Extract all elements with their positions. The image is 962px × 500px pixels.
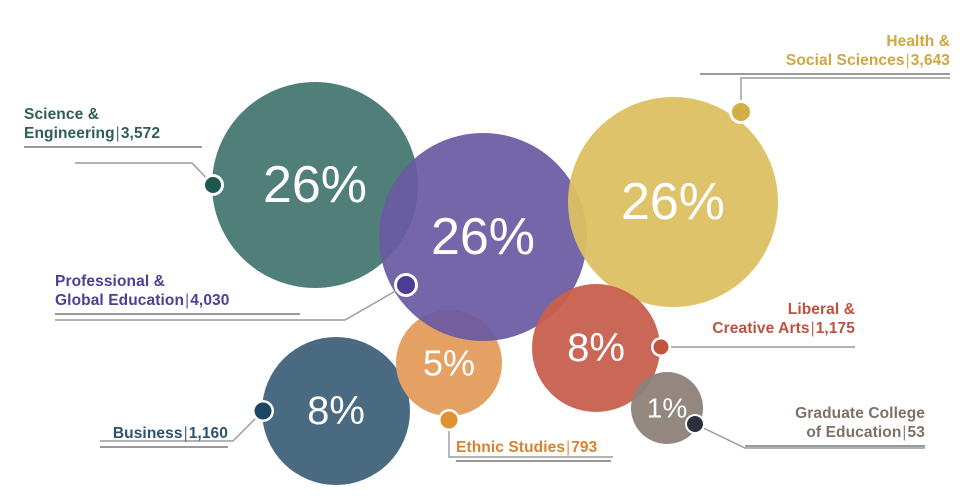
label-line1: Professional & (55, 273, 165, 290)
label-underline (745, 445, 925, 447)
connector-dot-health-social[interactable] (729, 100, 753, 124)
label-underline (24, 146, 202, 148)
label-liberal-creative[interactable]: Liberal & Creative Arts|1,175 (680, 300, 855, 338)
label-line1: Graduate College (795, 405, 925, 422)
connector-dot-liberal-creative[interactable] (651, 337, 671, 357)
label-separator: | (901, 424, 907, 441)
label-line1: Liberal & (788, 301, 855, 318)
leader-line-science-engineering (75, 163, 213, 185)
label-value: 3,643 (911, 52, 950, 69)
label-separator: | (115, 125, 121, 142)
label-separator: | (183, 425, 189, 442)
label-value: 793 (571, 439, 597, 456)
label-line1: Ethnic Studies (456, 439, 565, 456)
label-line2: Social Sciences (786, 52, 905, 69)
label-value: 1,175 (816, 320, 855, 337)
connector-dot-professional-global[interactable] (394, 273, 418, 297)
label-line2: of Education (806, 424, 901, 441)
label-line2: Global Education (55, 292, 184, 309)
connector-dot-science-engineering[interactable] (202, 174, 224, 196)
bubble-percent-liberal-creative: 8% (567, 326, 625, 370)
label-value: 1,160 (189, 425, 228, 442)
label-line2: Engineering (24, 125, 115, 142)
label-line1: Science & (24, 106, 99, 123)
connector-dot-business[interactable] (252, 400, 274, 422)
label-underline (700, 73, 950, 75)
bubble-percent-graduate-education: 1% (647, 393, 687, 424)
label-value: 4,030 (190, 292, 229, 309)
label-graduate-education[interactable]: Graduate College of Education|53 (745, 404, 925, 447)
label-underline (456, 460, 611, 462)
label-separator: | (565, 439, 571, 456)
bubble-health-social[interactable]: 26% (568, 97, 778, 307)
label-value: 3,572 (121, 125, 160, 142)
leader-line-health-social (741, 78, 950, 112)
bubble-chart-canvas: 26% 8% 26% 5% 26% 8% 1% (0, 0, 962, 500)
label-science-engineering[interactable]: Science & Engineering|3,572 (24, 105, 202, 148)
bubble-business[interactable]: 8% (262, 337, 410, 485)
label-value: 53 (908, 424, 925, 441)
label-line2: Creative Arts (712, 320, 809, 337)
bubble-percent-business: 8% (307, 389, 365, 433)
label-business[interactable]: Business|1,160 (100, 424, 228, 448)
connector-dot-graduate-education[interactable] (685, 414, 705, 434)
label-underline (55, 313, 300, 315)
label-separator: | (905, 52, 911, 69)
connector-dot-ethnic-studies[interactable] (438, 409, 460, 431)
label-health-social[interactable]: Health & Social Sciences|3,643 (700, 32, 950, 75)
label-underline (100, 446, 228, 448)
bubble-percent-science-engineering: 26% (263, 156, 367, 214)
bubble-percent-health-social: 26% (621, 173, 725, 231)
label-line1: Health & (886, 33, 950, 50)
label-separator: | (810, 320, 816, 337)
label-line1: Business (113, 425, 183, 442)
label-separator: | (184, 292, 190, 309)
bubble-percent-professional-global: 26% (431, 208, 535, 266)
label-ethnic-studies[interactable]: Ethnic Studies|793 (456, 438, 611, 462)
label-professional-global[interactable]: Professional & Global Education|4,030 (55, 272, 300, 315)
bubble-percent-ethnic-studies: 5% (423, 343, 475, 384)
